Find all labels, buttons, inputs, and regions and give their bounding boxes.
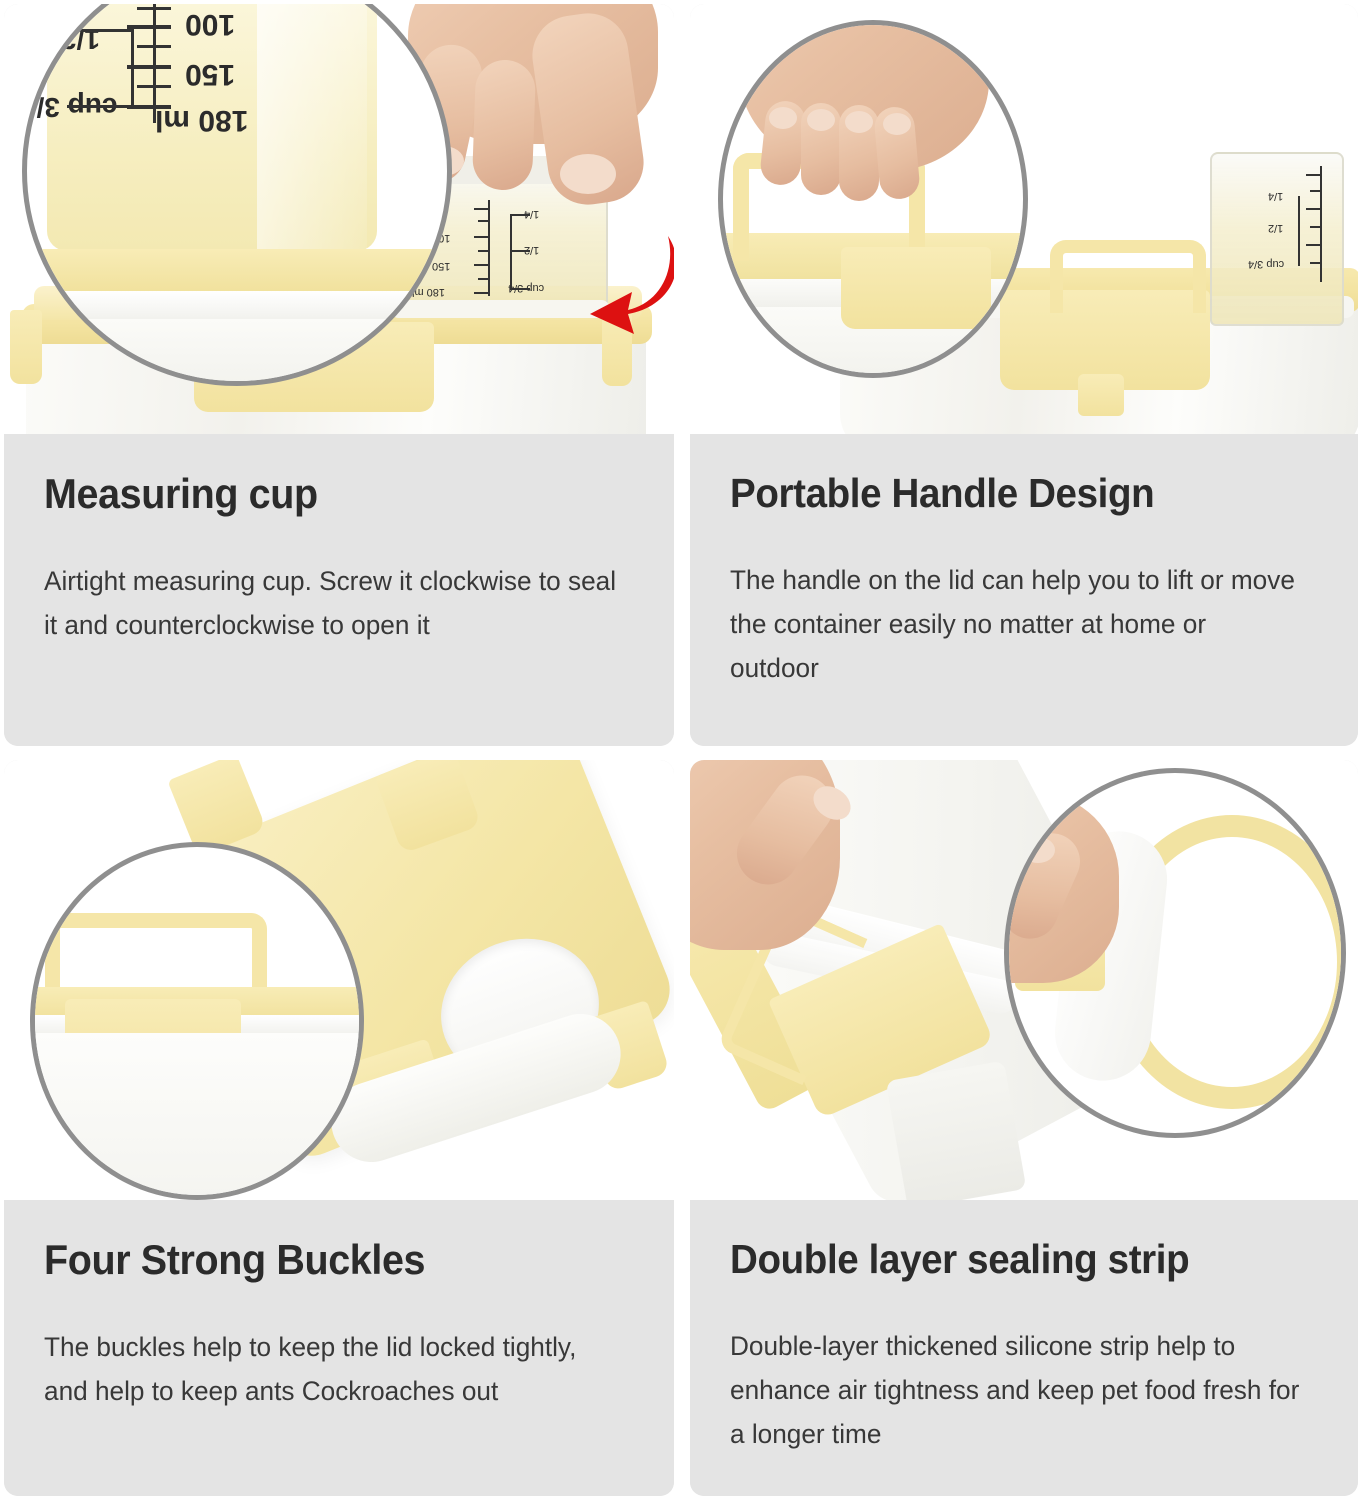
finger-middle xyxy=(472,59,537,191)
photo-measuring-cup: 50 100 150 180 ml 1/4 1/2 cup 3/4 xyxy=(4,4,674,434)
cup-scale-tick xyxy=(474,208,490,210)
cup-scale-tick xyxy=(478,278,490,280)
magnifier-inset xyxy=(1004,768,1346,1138)
magnified-fingernail xyxy=(1021,837,1055,863)
caption-measuring-cup: Measuring cup Airtight measuring cup. Sc… xyxy=(4,434,674,746)
caption-portable-handle: Portable Handle Design The handle on the… xyxy=(690,434,1358,746)
feature-panel-four-strong-buckles: Four Strong Buckles The buckles help to … xyxy=(4,760,674,1496)
magnified-fingernail xyxy=(845,111,873,133)
cup-fraction-bracket xyxy=(1298,196,1300,266)
panel-body: Double-layer thickened silicone strip he… xyxy=(730,1325,1300,1456)
cup-scale-axis xyxy=(1320,166,1322,282)
cup-fraction-lead xyxy=(510,288,530,290)
feature-grid: 50 100 150 180 ml 1/4 1/2 cup 3/4 xyxy=(0,0,1362,1500)
fingernail-thumb xyxy=(560,154,616,194)
magnified-fingernail xyxy=(883,113,911,135)
feature-panel-measuring-cup: 50 100 150 180 ml 1/4 1/2 cup 3/4 xyxy=(4,4,674,746)
feature-cell-measuring-cup: 50 100 150 180 ml 1/4 1/2 cup 3/4 xyxy=(0,0,680,750)
magnified-tick xyxy=(137,85,171,88)
cup-scale-tick xyxy=(474,292,490,294)
cup-scale-axis xyxy=(488,200,490,296)
magnified-label-150: 150 xyxy=(185,57,235,91)
panel-body: The buckles help to keep the lid locked … xyxy=(44,1326,616,1413)
lid-handle xyxy=(1050,240,1206,313)
magnified-cup-highlight xyxy=(257,4,367,251)
caption-double-layer-sealing-strip: Double layer sealing strip Double-layer … xyxy=(690,1200,1358,1496)
cup-scale-label-half: 1/2 xyxy=(1268,222,1283,234)
cup-scale-tick xyxy=(474,264,490,266)
feature-cell-portable-handle: 1/4 1/2 cup 3/4 xyxy=(680,0,1362,750)
cup-fraction-lead xyxy=(510,214,530,216)
magnifier-inset xyxy=(718,20,1028,378)
feature-panel-double-layer-sealing-strip: Double layer sealing strip Double-layer … xyxy=(690,760,1358,1496)
magnified-fraction-bracket xyxy=(131,29,134,107)
cup-scale-tick xyxy=(1310,262,1322,264)
cup-scale-label-three-quarter: cup 3/4 xyxy=(1248,258,1284,270)
magnified-fingernail xyxy=(769,107,797,129)
cup-scale-tick xyxy=(1306,174,1322,176)
cup-scale-tick xyxy=(1310,190,1322,192)
magnified-tick xyxy=(137,45,171,48)
panel-title: Portable Handle Design xyxy=(730,472,1283,515)
measuring-cup xyxy=(886,1061,1027,1200)
magnified-fraction-lead xyxy=(67,29,133,32)
feature-panel-portable-handle: 1/4 1/2 cup 3/4 xyxy=(690,4,1358,746)
cup-scale-label-quarter: 1/4 xyxy=(1268,190,1283,202)
caption-four-strong-buckles: Four Strong Buckles The buckles help to … xyxy=(4,1200,674,1496)
magnifier-inset: 100 150 180 ml 1/2 cup 3/4 xyxy=(22,4,452,386)
cup-scale-tick xyxy=(478,220,490,222)
buckle-side xyxy=(1078,374,1124,416)
cup-scale-tick xyxy=(1306,244,1322,246)
magnified-container-body xyxy=(27,319,447,386)
magnified-tick xyxy=(137,7,171,10)
feature-cell-double-layer-sealing-strip: Double layer sealing strip Double-layer … xyxy=(680,750,1362,1500)
magnified-label-100: 100 xyxy=(185,7,235,41)
panel-title: Double layer sealing strip xyxy=(730,1238,1283,1281)
cup-scale-tick xyxy=(1310,226,1322,228)
photo-four-strong-buckles xyxy=(4,760,674,1200)
magnifier-inset xyxy=(30,842,364,1200)
magnified-lid-band xyxy=(27,249,447,297)
photo-portable-handle: 1/4 1/2 cup 3/4 xyxy=(690,4,1358,434)
magnified-fraction-lead xyxy=(67,105,133,108)
cup-scale-tick xyxy=(478,250,490,252)
cup-scale-tick xyxy=(1306,208,1322,210)
panel-body: The handle on the lid can help you to li… xyxy=(730,559,1300,690)
measuring-cup xyxy=(1210,152,1344,326)
panel-title: Four Strong Buckles xyxy=(44,1238,599,1282)
cup-fraction-lead xyxy=(510,250,530,252)
magnified-buckle xyxy=(841,247,991,329)
photo-double-layer-sealing-strip xyxy=(690,760,1358,1200)
cup-scale-tick xyxy=(474,236,490,238)
feature-cell-four-strong-buckles: Four Strong Buckles The buckles help to … xyxy=(0,750,680,1500)
magnified-label-half: 1/2 xyxy=(61,23,100,55)
panel-body: Airtight measuring cup. Screw it clockwi… xyxy=(44,560,616,647)
panel-title: Measuring cup xyxy=(44,472,599,516)
magnified-container-body xyxy=(30,1033,364,1200)
magnified-fingernail xyxy=(807,109,835,131)
clockwise-arrow-icon xyxy=(576,222,674,334)
